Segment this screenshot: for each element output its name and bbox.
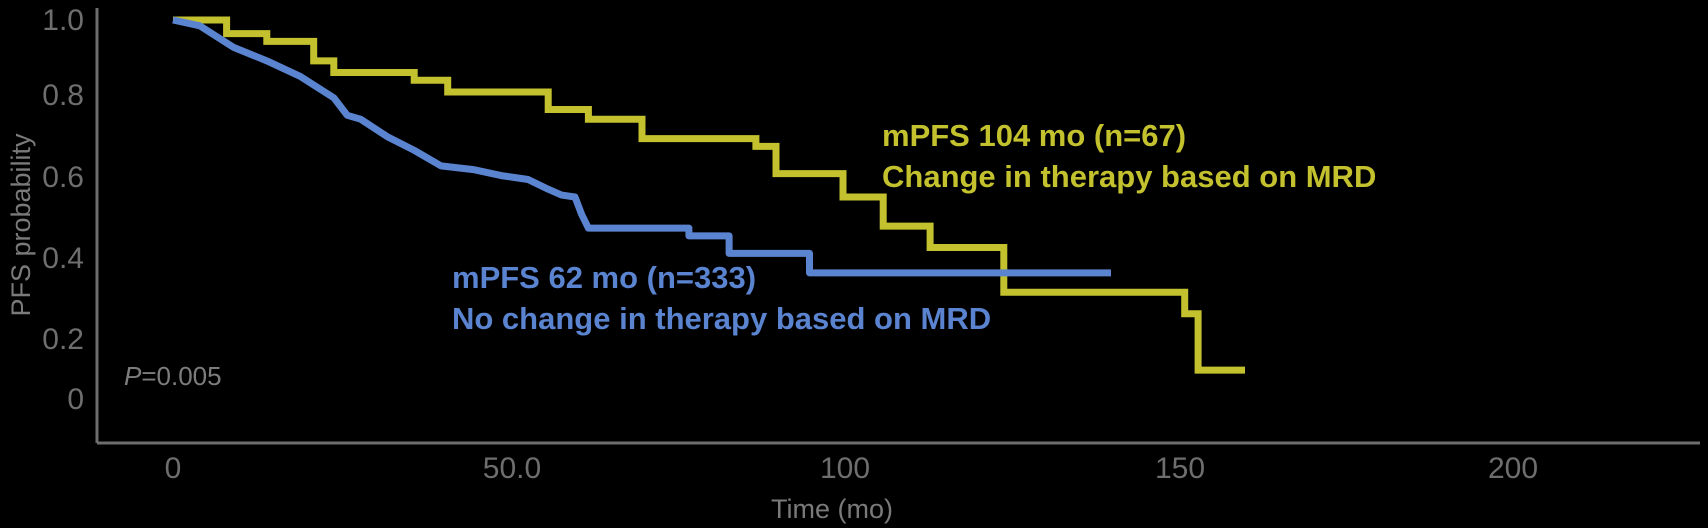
annotation-blue-mpfs: mPFS 62 mo (n=333) — [452, 260, 756, 295]
y-tick-label: 1.0 — [42, 4, 84, 37]
x-axis-title: Time (mo) — [771, 494, 893, 524]
p-value-label: P=0.005 — [124, 361, 222, 391]
p-value-number: =0.005 — [141, 361, 221, 391]
x-tick-label: 100 — [820, 452, 870, 485]
y-axis-title: PFS probability — [6, 133, 36, 317]
x-tick-label: 50.0 — [483, 452, 541, 485]
annotation-blue-description: No change in therapy based on MRD — [452, 301, 991, 336]
p-value-symbol: P — [124, 361, 142, 391]
x-tick-label: 150 — [1155, 452, 1205, 485]
annotation-yellow-description: Change in therapy based on MRD — [882, 159, 1376, 194]
km-plot-figure: 1.0 0.8 0.6 0.4 0.2 0 0 50.0 100 150 200… — [0, 0, 1708, 528]
y-tick-label: 0.2 — [42, 323, 84, 356]
x-tick-label: 200 — [1488, 452, 1538, 485]
y-tick-label: 0.8 — [42, 79, 84, 112]
km-plot-svg: 1.0 0.8 0.6 0.4 0.2 0 0 50.0 100 150 200… — [0, 0, 1708, 528]
y-tick-label: 0.4 — [42, 242, 84, 275]
y-tick-label: 0 — [67, 383, 84, 416]
annotation-yellow-mpfs: mPFS 104 mo (n=67) — [882, 118, 1186, 153]
y-tick-label: 0.6 — [42, 161, 84, 194]
x-tick-label: 0 — [165, 452, 182, 485]
